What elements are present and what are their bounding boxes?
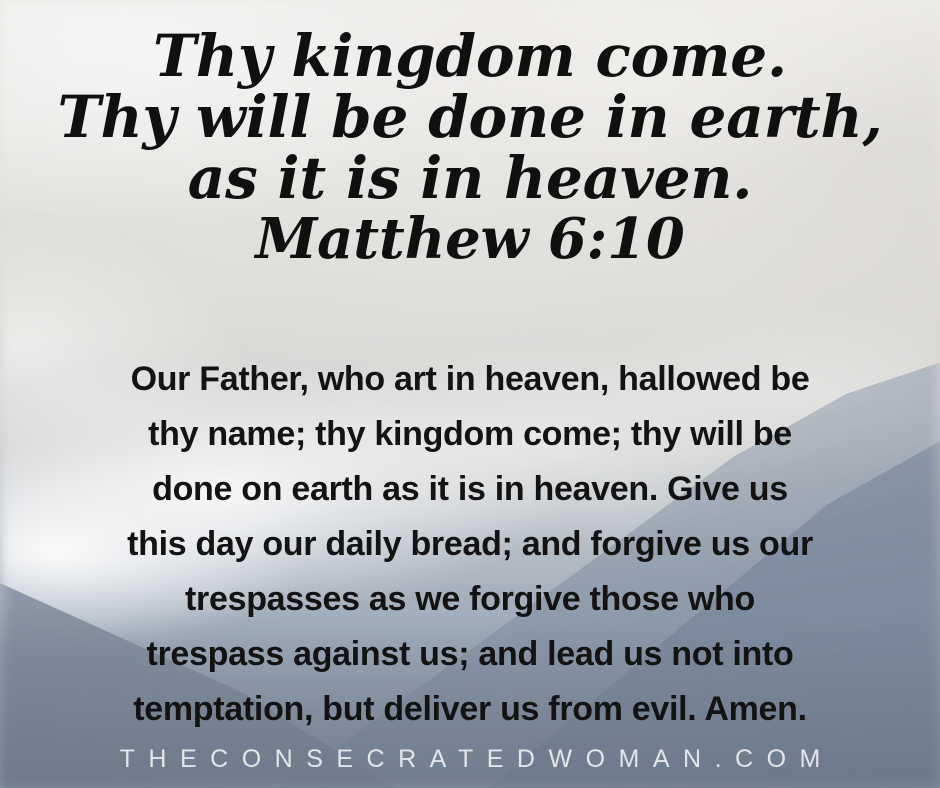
prayer-line-4: this day our daily bread; and forgive us… bbox=[46, 517, 894, 572]
prayer-paragraph: Our Father, who art in heaven, hallowed … bbox=[46, 352, 894, 737]
prayer-line-2: thy name; thy kingdom come; thy will be bbox=[46, 407, 894, 462]
scripture-reference: Matthew 6:10 bbox=[0, 209, 940, 270]
scripture-headline: Thy kingdom come. Thy will be done in ea… bbox=[0, 26, 940, 270]
prayer-line-5: trespasses as we forgive those who bbox=[46, 572, 894, 627]
scripture-line-3: as it is in heaven. bbox=[0, 148, 940, 209]
site-watermark: THECONSECRATEDWOMAN.COM bbox=[0, 745, 940, 774]
quote-graphic: Thy kingdom come. Thy will be done in ea… bbox=[0, 0, 940, 788]
scripture-line-2: Thy will be done in earth, bbox=[0, 87, 940, 148]
prayer-line-6: trespass against us; and lead us not int… bbox=[46, 627, 894, 682]
prayer-line-3: done on earth as it is in heaven. Give u… bbox=[46, 462, 894, 517]
scripture-line-1: Thy kingdom come. bbox=[0, 26, 940, 87]
prayer-line-1: Our Father, who art in heaven, hallowed … bbox=[46, 352, 894, 407]
prayer-line-7: temptation, but deliver us from evil. Am… bbox=[46, 682, 894, 737]
